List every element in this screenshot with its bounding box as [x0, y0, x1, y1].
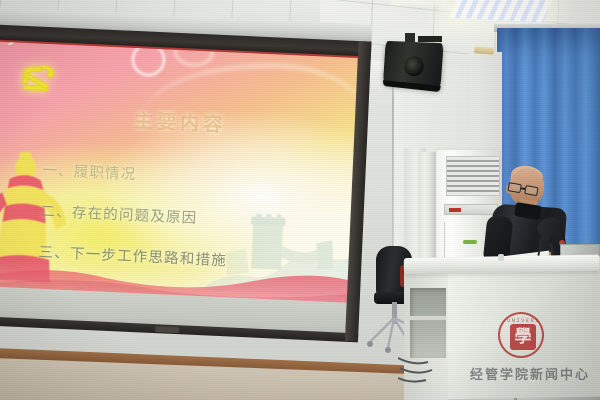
microphone-head-2-icon [549, 236, 556, 244]
photo-scene: 主要内容 一、履职情况 二、存在的问题及原因 三、下一步工作思路和措施 [0, 0, 600, 400]
ceiling-light-secondary [390, 0, 452, 5]
projection-screen: 主要内容 一、履职情况 二、存在的问题及原因 三、下一步工作思路和措施 [0, 8, 372, 355]
speaker-cone [404, 56, 425, 77]
screen-pull-knob[interactable] [155, 326, 179, 333]
slide-content: 主要内容 一、履职情况 二、存在的问题及原因 三、下一步工作思路和措施 [0, 42, 371, 304]
lectern-open-shelf [410, 288, 446, 358]
speaker-bracket-arm [418, 36, 442, 42]
desk-mic-base [498, 254, 504, 261]
microphone-head-icon [533, 232, 541, 241]
decor-star-icon [6, 42, 28, 48]
ac-power-led [449, 208, 461, 212]
slide-bullet-1: 一、履职情况 [42, 159, 343, 194]
cpc-party-emblem-icon [14, 57, 62, 99]
slide-bullet-2: 二、存在的问题及原因 [40, 200, 341, 235]
wall-corner-line [392, 60, 394, 270]
ceiling-speaker-icon [383, 41, 444, 89]
wall-fixture [474, 46, 494, 54]
